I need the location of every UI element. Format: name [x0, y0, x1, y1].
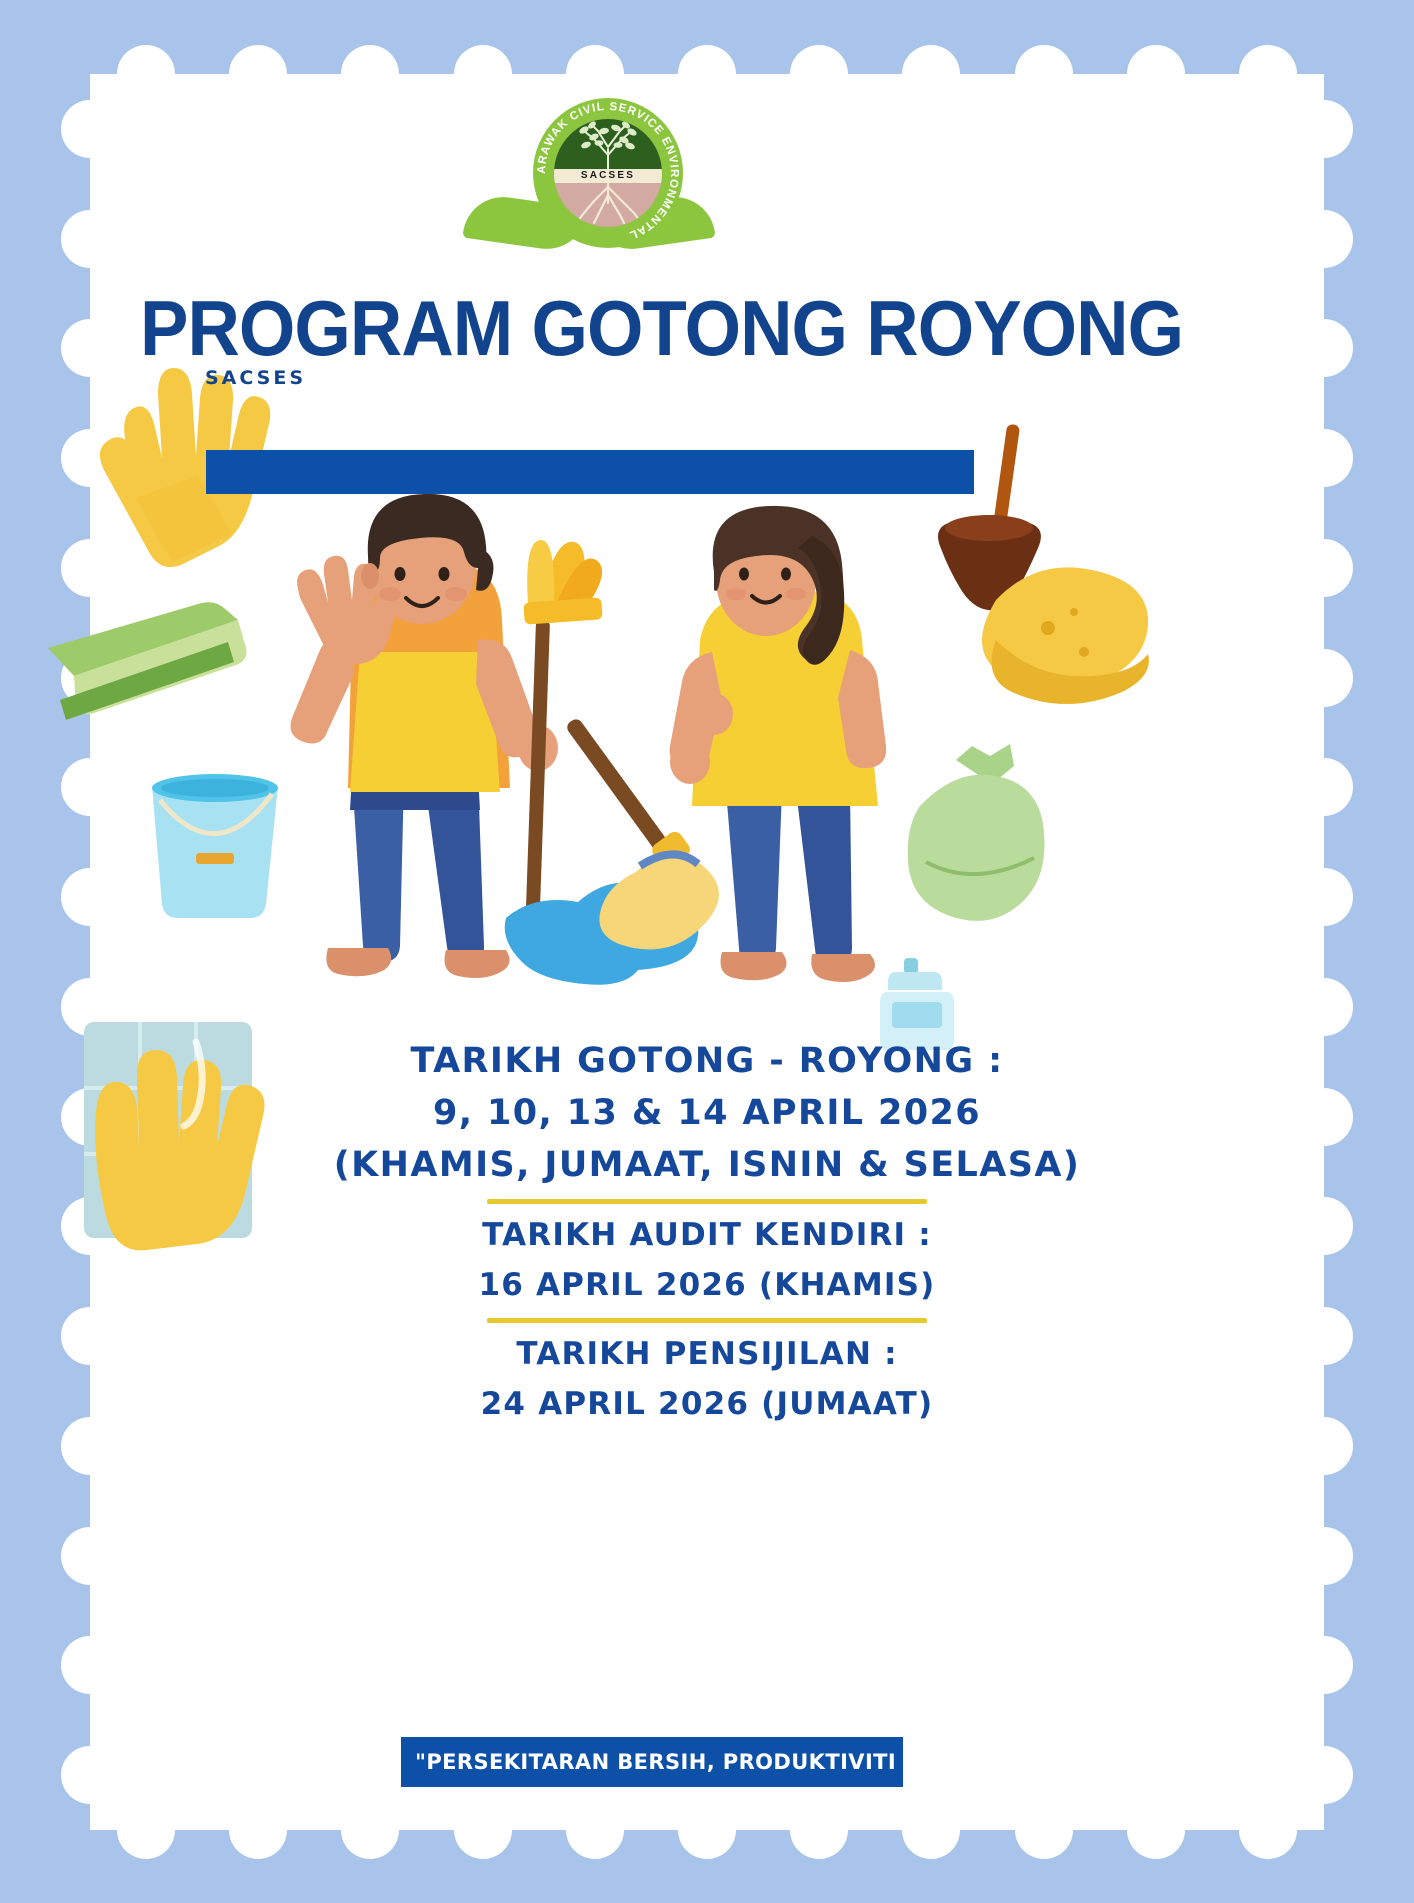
- stamp-notch: [566, 1801, 624, 1859]
- stamp-notch: [61, 429, 119, 487]
- logo-disc: SACSES: [554, 119, 662, 227]
- stamp-notch: [454, 1801, 512, 1859]
- slogan-text: "PERSEKITARAN BERSIH, PRODUKTIVITI MENIN…: [401, 1750, 903, 1774]
- poster-canvas: STANDARD SARAWAK CIVIL SERVICE ENVIRONME…: [0, 0, 1414, 1903]
- stamp-notch: [1295, 1636, 1353, 1694]
- stamp-notch: [1295, 429, 1353, 487]
- stamp-notch: [61, 210, 119, 268]
- audit-kendiri-date: 16 APRIL 2026 (KHAMIS): [200, 1260, 1214, 1310]
- stamp-notch: [1295, 1746, 1353, 1804]
- stamp-notch: [790, 45, 848, 103]
- stamp-notch: [1295, 1088, 1353, 1146]
- sacses-logo: STANDARD SARAWAK CIVIL SERVICE ENVIRONME…: [459, 98, 719, 254]
- stamp-notch: [61, 649, 119, 707]
- stamp-notch: [678, 45, 736, 103]
- stamp-notch: [61, 1527, 119, 1585]
- stamp-notch: [1295, 539, 1353, 597]
- stamp-notch: [61, 1417, 119, 1475]
- stamp-notch: [61, 1746, 119, 1804]
- stamp-notch: [1015, 45, 1073, 103]
- gotong-royong-days: (KHAMIS, JUMAAT, ISNIN & SELASA): [200, 1139, 1214, 1191]
- stamp-notch: [1239, 45, 1297, 103]
- stamp-notch: [229, 1801, 287, 1859]
- stamp-notch: [229, 45, 287, 103]
- slogan-banner: "PERSEKITARAN BERSIH, PRODUKTIVITI MENIN…: [401, 1737, 903, 1787]
- stamp-notch: [790, 1801, 848, 1859]
- stamp-notch: [117, 1801, 175, 1859]
- logo-center-label: SACSES: [554, 170, 662, 182]
- stamp-notch: [61, 1307, 119, 1365]
- stamp-notch: [61, 1197, 119, 1255]
- stamp-notch: [1295, 978, 1353, 1036]
- pensijilan-label: TARIKH PENSIJILAN :: [200, 1329, 1214, 1379]
- stamp-notch: [1295, 210, 1353, 268]
- stamp-notch: [61, 978, 119, 1036]
- stamp-notch: [1015, 1801, 1073, 1859]
- stamp-notch: [1127, 45, 1185, 103]
- page-subtitle: SACSES: [205, 367, 306, 389]
- stamp-notch: [1295, 758, 1353, 816]
- title-accent-bar: [206, 450, 974, 494]
- stamp-notch: [678, 1801, 736, 1859]
- stamp-notch: [566, 45, 624, 103]
- stamp-notch: [1295, 1307, 1353, 1365]
- stamp-notch: [902, 1801, 960, 1859]
- stamp-notch: [1295, 649, 1353, 707]
- stamp-notch: [61, 319, 119, 377]
- stamp-notch: [61, 758, 119, 816]
- stamp-notch: [61, 539, 119, 597]
- pensijilan-date: 24 APRIL 2026 (JUMAAT): [200, 1379, 1214, 1429]
- divider-rule-1: [487, 1199, 927, 1204]
- stamp-notch: [341, 1801, 399, 1859]
- stamp-notch: [1295, 1417, 1353, 1475]
- gotong-royong-label: TARIKH GOTONG - ROYONG :: [200, 1035, 1214, 1087]
- audit-kendiri-label: TARIKH AUDIT KENDIRI :: [200, 1210, 1214, 1260]
- stamp-notch: [61, 868, 119, 926]
- page-title: PROGRAM GOTONG ROYONG: [140, 283, 1070, 374]
- event-details: TARIKH GOTONG - ROYONG : 9, 10, 13 & 14 …: [200, 1035, 1214, 1429]
- stamp-notch: [1295, 1527, 1353, 1585]
- stamp-notch: [117, 45, 175, 103]
- stamp-notch: [1127, 1801, 1185, 1859]
- stamp-notch: [61, 1636, 119, 1694]
- stamp-notch: [454, 45, 512, 103]
- divider-rule-2: [487, 1318, 927, 1323]
- stamp-notch: [1295, 1197, 1353, 1255]
- stamp-notch: [1295, 100, 1353, 158]
- stamp-notch: [61, 1088, 119, 1146]
- stamp-notch: [1295, 868, 1353, 926]
- gotong-royong-dates: 9, 10, 13 & 14 APRIL 2026: [200, 1087, 1214, 1139]
- stamp-notch: [1295, 319, 1353, 377]
- stamp-notch: [61, 100, 119, 158]
- stamp-notch: [902, 45, 960, 103]
- stamp-notch: [1239, 1801, 1297, 1859]
- logo-ring: STANDARD SARAWAK CIVIL SERVICE ENVIRONME…: [533, 98, 683, 248]
